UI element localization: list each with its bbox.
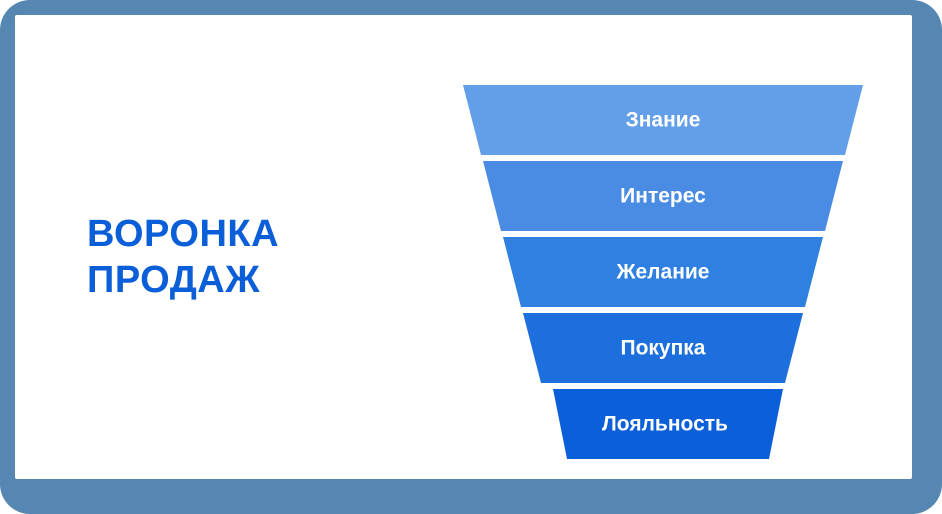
- funnel-stage-1[interactable]: Знание: [463, 85, 863, 155]
- funnel-stage-3-label: Желание: [616, 261, 710, 284]
- slide-canvas: ВОРОНКА ПРОДАЖ Знание Интерес Желание: [0, 0, 942, 514]
- slide-content-area: ВОРОНКА ПРОДАЖ Знание Интерес Желание: [15, 15, 912, 479]
- funnel-stage-2[interactable]: Интерес: [483, 161, 843, 231]
- sales-funnel-diagram: Знание Интерес Желание Покупка: [445, 70, 885, 470]
- funnel-stage-5[interactable]: Лояльность: [553, 389, 783, 459]
- funnel-stage-3[interactable]: Желание: [503, 237, 823, 307]
- funnel-stage-4-label: Покупка: [621, 337, 706, 360]
- page-title: ВОРОНКА ПРОДАЖ: [87, 211, 417, 304]
- funnel-stage-4[interactable]: Покупка: [523, 313, 803, 383]
- funnel-stage-5-label: Лояльность: [602, 413, 728, 436]
- funnel-stage-1-label: Знание: [626, 109, 701, 132]
- funnel-stage-2-label: Интерес: [620, 185, 706, 208]
